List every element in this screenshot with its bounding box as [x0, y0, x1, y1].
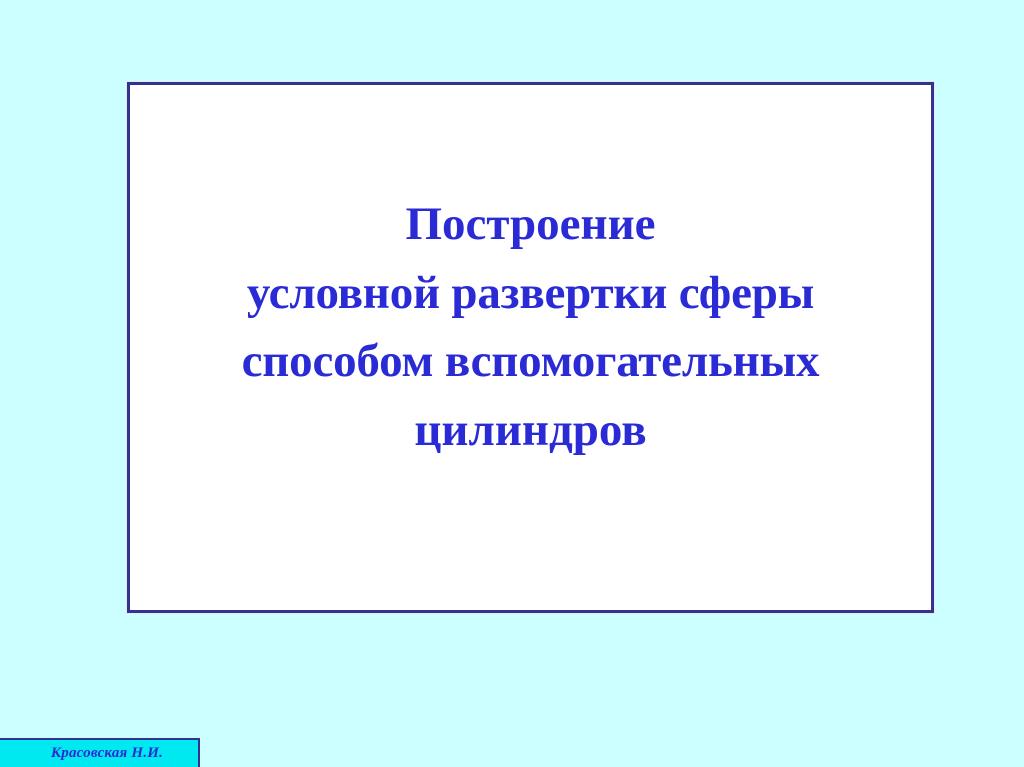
- presentation-slide: Построение условной развертки сферы спос…: [0, 0, 1024, 767]
- title-line-4: цилиндров: [130, 396, 931, 465]
- title-line-2: условной развертки сферы: [130, 259, 931, 328]
- title-line-3: способом вспомогательных: [130, 327, 931, 396]
- slide-content-frame: Построение условной развертки сферы спос…: [127, 82, 934, 613]
- author-badge: Красовская Н.И.: [0, 738, 200, 767]
- slide-title: Построение условной развертки сферы спос…: [130, 190, 931, 464]
- author-name: Красовская Н.И.: [35, 745, 163, 762]
- title-line-1: Построение: [130, 190, 931, 259]
